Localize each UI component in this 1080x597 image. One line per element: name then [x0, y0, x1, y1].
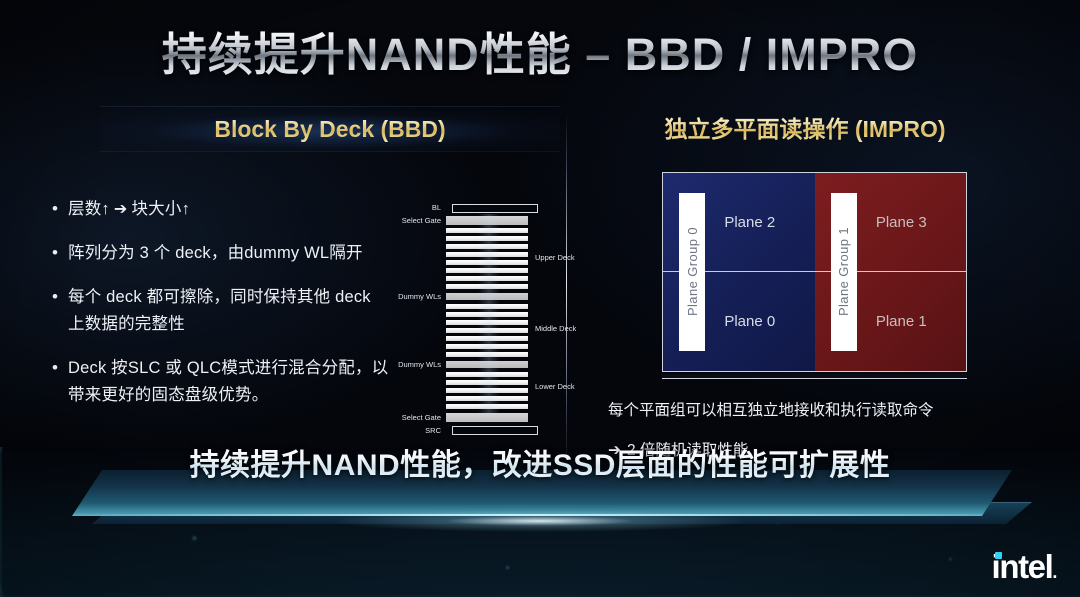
- bottom-banner: 持续提升NAND性能，改进SSD层面的性能可扩展性: [0, 466, 1080, 556]
- upper-deck-label: Upper Deck: [535, 253, 575, 262]
- left-panel-header: Block By Deck (BBD): [100, 108, 560, 150]
- bullet-text: 阵列分为 3 个 deck，由dummy WL隔开: [68, 240, 363, 267]
- word-line: [446, 336, 528, 341]
- bullet-text-a: 层数↑: [68, 200, 110, 218]
- list-item: • 阵列分为 3 个 deck，由dummy WL隔开: [52, 240, 392, 267]
- bitline-label: BL: [321, 203, 441, 212]
- word-line: [446, 304, 528, 309]
- word-line: [446, 388, 528, 393]
- word-line: [446, 372, 528, 377]
- word-line: [446, 320, 528, 325]
- intel-logo-period: .: [1052, 562, 1056, 582]
- lower-deck-label: Lower Deck: [535, 382, 575, 391]
- bullet-dot: •: [52, 196, 68, 223]
- word-line: [446, 252, 528, 257]
- source-line-bar: [452, 426, 538, 435]
- word-line: [446, 276, 528, 281]
- bullet-text-b: 块大小↑: [131, 200, 190, 218]
- intel-logo: intel.: [992, 550, 1056, 583]
- dummy-wl-lower-bar: [446, 361, 528, 368]
- panel-divider: [566, 112, 567, 468]
- impro-diagram-base: [662, 374, 967, 379]
- select-gate-bottom-label: Select Gate: [321, 413, 441, 422]
- middle-deck-label: Middle Deck: [535, 324, 576, 333]
- select-gate-top-bar: [446, 216, 528, 225]
- plane-group-1-label: Plane Group 1: [831, 193, 857, 351]
- banner-glow: [330, 510, 750, 532]
- select-gate-top-label: Select Gate: [321, 216, 441, 225]
- bullet-text: 层数↑➔块大小↑: [68, 196, 190, 223]
- impro-caption-line1: 每个平面组可以相互独立地接收和执行读取命令: [608, 398, 934, 420]
- word-line: [446, 312, 528, 317]
- slide-title: 持续提升NAND性能 – BBD / IMPRO: [0, 18, 1080, 83]
- word-line: [446, 260, 528, 265]
- plane-group-1-label-text: Plane Group 1: [836, 227, 851, 316]
- intel-logo-dot-icon: [995, 552, 1002, 559]
- plane-group-0-label: Plane Group 0: [679, 193, 705, 351]
- dummy-wl-lower-label: Dummy WLs: [321, 360, 441, 369]
- source-line-label: SRC: [321, 426, 441, 435]
- banner-text: 持续提升NAND性能，改进SSD层面的性能可扩展性: [0, 440, 1080, 484]
- impro-diagram: Plane 2 Plane 0 Plane Group 0 Plane 3 Pl…: [662, 172, 967, 372]
- bitline-bar: [452, 204, 538, 213]
- word-line: [446, 396, 528, 401]
- word-line: [446, 284, 528, 289]
- bullet-dot: •: [52, 284, 68, 338]
- bullet-dot: •: [52, 355, 68, 409]
- dummy-wl-upper-label: Dummy WLs: [321, 292, 441, 301]
- word-line: [446, 344, 528, 349]
- nand-deck-diagram: BL Select Gate Upper Deck Dummy WLs Midd…: [383, 200, 558, 430]
- word-line: [446, 236, 528, 241]
- word-line: [446, 228, 528, 233]
- word-line: [446, 352, 528, 357]
- left-bullet-list: • 层数↑➔块大小↑ • 阵列分为 3 个 deck，由dummy WL隔开 •…: [52, 196, 392, 426]
- word-line: [446, 380, 528, 385]
- select-gate-bottom-bar: [446, 413, 528, 422]
- plane-group-0-label-text: Plane Group 0: [685, 227, 700, 316]
- plane-group-1: Plane 3 Plane 1 Plane Group 1: [815, 173, 967, 371]
- word-line: [446, 244, 528, 249]
- word-line: [446, 328, 528, 333]
- plane-group-0: Plane 2 Plane 0 Plane Group 0: [663, 173, 815, 371]
- arrow-right-icon: ➔: [110, 201, 132, 218]
- dummy-wl-upper-bar: [446, 293, 528, 300]
- right-panel-header: 独立多平面读操作 (IMPRO): [590, 108, 1020, 150]
- word-line: [446, 268, 528, 273]
- bullet-dot: •: [52, 240, 68, 267]
- word-line: [446, 404, 528, 409]
